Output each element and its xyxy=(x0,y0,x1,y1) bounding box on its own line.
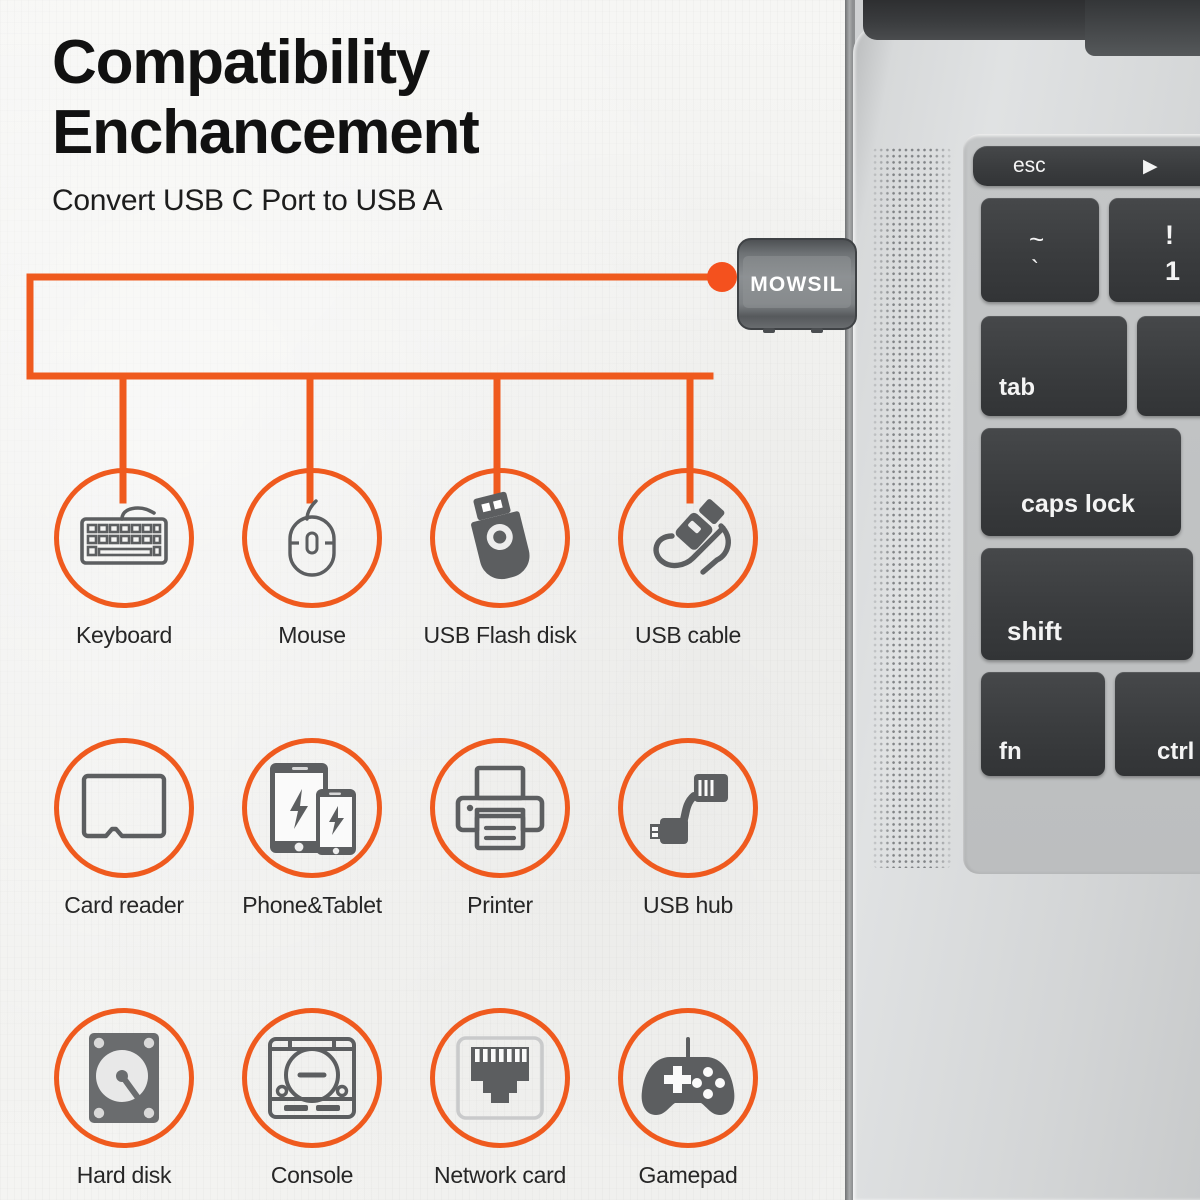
icon-circle-keyboard xyxy=(54,468,194,608)
key-caps-lock[interactable]: caps lock xyxy=(981,428,1181,536)
device-item-usb-hub[interactable]: USB hub xyxy=(594,738,782,1008)
device-item-hard-disk[interactable]: Hard disk xyxy=(30,1008,218,1200)
key-label-tab: tab xyxy=(999,374,1035,402)
usb-hub-icon xyxy=(642,764,734,852)
device-label: Card reader xyxy=(64,892,183,919)
device-label: USB hub xyxy=(643,892,733,919)
device-label: Keyboard xyxy=(76,622,172,649)
headline-block: Compatibility Enchancement Convert USB C… xyxy=(52,28,752,218)
icon-circle-usb-flash xyxy=(430,468,570,608)
adapter-body: MOWSIL xyxy=(735,232,865,340)
icon-circle-network-card xyxy=(430,1008,570,1148)
headline-line-2: Enchancement xyxy=(52,98,752,168)
icon-circle-usb-cable xyxy=(618,468,758,608)
phone-tablet-charging-icon xyxy=(266,759,358,857)
usb-cable-icon xyxy=(641,492,735,584)
device-label: Console xyxy=(271,1162,353,1189)
keyboard-icon xyxy=(76,503,172,573)
key-label-esc: esc xyxy=(1013,154,1046,178)
icon-circle-gamepad xyxy=(618,1008,758,1148)
device-item-gamepad[interactable]: Gamepad xyxy=(594,1008,782,1200)
device-label: Mouse xyxy=(278,622,346,649)
key-label-shift: shift xyxy=(1007,616,1062,647)
icon-circle-mouse xyxy=(242,468,382,608)
icon-circle-printer xyxy=(430,738,570,878)
hard-disk-icon xyxy=(86,1030,162,1126)
icon-row-1: Keyboard Mouse xyxy=(0,468,800,738)
device-label: Hard disk xyxy=(77,1162,171,1189)
key-shift[interactable]: shift xyxy=(981,548,1193,660)
device-item-keyboard[interactable]: Keyboard xyxy=(30,468,218,738)
key-label-ctrl: ctrl xyxy=(1157,738,1194,766)
key-label-tilde: ~ xyxy=(1029,224,1044,255)
device-label: Printer xyxy=(467,892,533,919)
brand-wordmark: MOWSIL xyxy=(750,273,844,296)
device-label: Gamepad xyxy=(639,1162,738,1189)
key-label-fn: fn xyxy=(999,738,1022,766)
usb-adapter-product: MOWSIL xyxy=(735,232,865,340)
icon-circle-hard-disk xyxy=(54,1008,194,1148)
play-icon: ▶ xyxy=(1143,155,1158,178)
device-item-phone-tablet[interactable]: Phone&Tablet xyxy=(218,738,406,1008)
icon-circle-usb-hub xyxy=(618,738,758,878)
marketing-image-canvas: Compatibility Enchancement Convert USB C… xyxy=(0,0,1200,1200)
device-item-usb-cable[interactable]: USB cable xyxy=(594,468,782,738)
key-q[interactable] xyxy=(1137,316,1200,416)
connector-endpoint-dot xyxy=(707,262,737,292)
rj45-connector-icon xyxy=(455,1035,545,1121)
icon-circle-card-reader xyxy=(54,738,194,878)
key-esc[interactable]: esc ▶ xyxy=(973,146,1200,186)
usb-flash-drive-icon xyxy=(460,490,540,586)
icon-row-3: Hard disk xyxy=(0,1008,800,1200)
icon-circle-phone-tablet xyxy=(242,738,382,878)
key-tab[interactable]: tab xyxy=(981,316,1127,416)
device-item-usb-flash[interactable]: USB Flash disk xyxy=(406,468,594,738)
gamepad-icon xyxy=(640,1035,736,1121)
subtitle: Convert USB C Port to USB A xyxy=(52,184,752,218)
key-label-caps-lock: caps lock xyxy=(1021,490,1135,519)
sd-card-icon xyxy=(78,770,170,846)
device-label: Network card xyxy=(434,1162,566,1189)
speaker-grille xyxy=(873,148,951,868)
laptop-hinge-block xyxy=(1085,0,1200,56)
device-item-console[interactable]: Console xyxy=(218,1008,406,1200)
icon-row-2: Card reader xyxy=(0,738,800,1008)
device-item-card-reader[interactable]: Card reader xyxy=(30,738,218,1008)
device-item-mouse[interactable]: Mouse xyxy=(218,468,406,738)
device-label: Phone&Tablet xyxy=(242,892,382,919)
key-label-backtick: ` xyxy=(1031,256,1039,284)
key-one[interactable]: ! 1 xyxy=(1109,198,1200,302)
key-tilde[interactable]: ~ ` xyxy=(981,198,1099,302)
connector-main-bracket xyxy=(30,277,720,376)
game-console-icon xyxy=(266,1035,358,1121)
device-label: USB cable xyxy=(635,622,741,649)
laptop-left-edge xyxy=(845,0,853,1200)
compatibility-icon-grid: Keyboard Mouse xyxy=(0,468,800,1200)
key-fn[interactable]: fn xyxy=(981,672,1105,776)
device-item-printer[interactable]: Printer xyxy=(406,738,594,1008)
headline-line-1: Compatibility xyxy=(52,28,752,98)
macbook-laptop: esc ▶ ~ ` ! 1 tab caps lock shift fn xyxy=(845,0,1200,1200)
icon-circle-console xyxy=(242,1008,382,1148)
key-ctrl[interactable]: ctrl xyxy=(1115,672,1200,776)
printer-icon xyxy=(453,764,547,852)
mouse-icon xyxy=(276,495,348,581)
device-label: USB Flash disk xyxy=(423,622,576,649)
key-label-exclam: ! xyxy=(1165,220,1174,251)
key-label-one: 1 xyxy=(1165,256,1180,287)
device-item-network-card[interactable]: Network card xyxy=(406,1008,594,1200)
